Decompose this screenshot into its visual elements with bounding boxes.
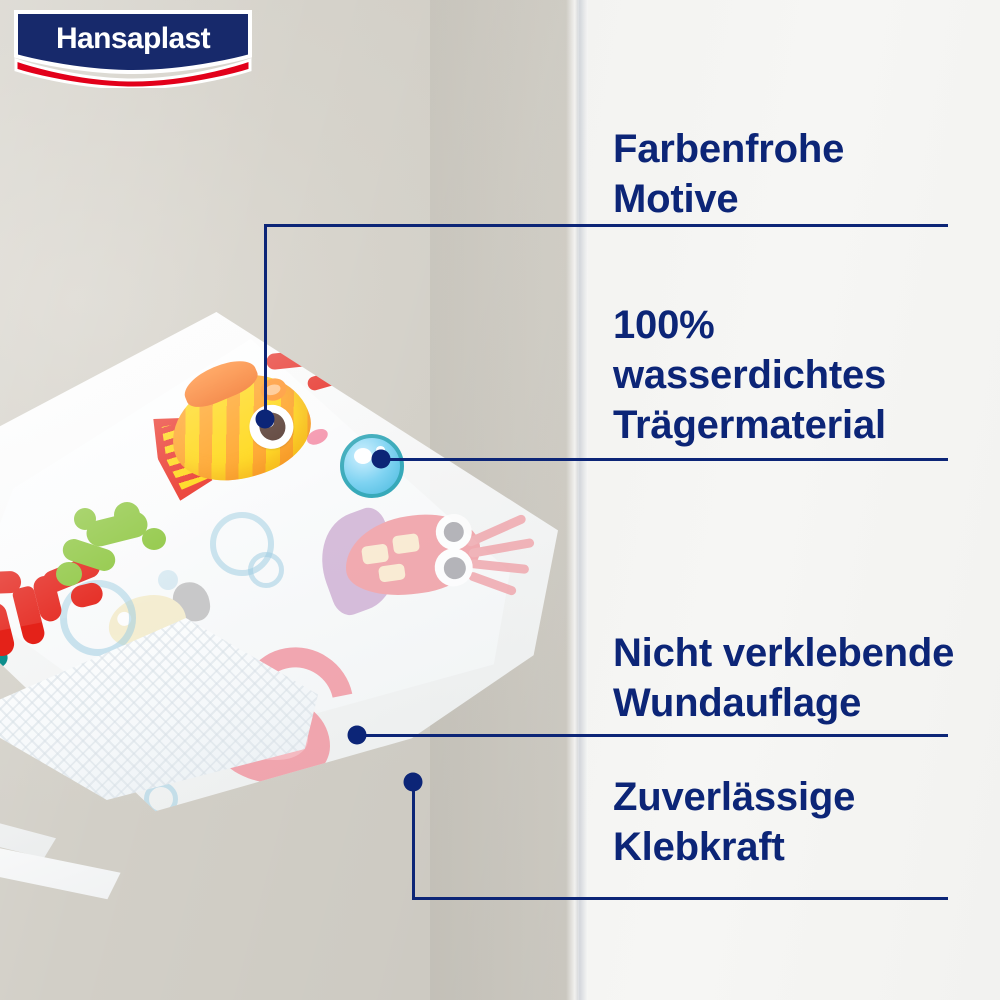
callout-line: 100%	[613, 300, 983, 350]
callout-line: Farbenfrohe	[613, 124, 983, 174]
callout-text-reliable-adhesion: Zuverlässige Klebkraft	[613, 772, 983, 872]
callout-line: Wundauflage	[613, 678, 983, 728]
hansaplast-logo: Hansaplast	[14, 10, 252, 88]
callout-text-non-adherent-pad: Nicht verklebende Wundauflage	[613, 628, 983, 728]
callout-dot-colorful-motifs	[256, 410, 275, 429]
logo-shape	[14, 10, 252, 88]
callout-line: Trägermaterial	[613, 400, 983, 450]
callout-text-waterproof-backing: 100% wasserdichtes Trägermaterial	[613, 300, 983, 450]
callout-line: Nicht verklebende	[613, 628, 983, 678]
callout-line: Klebkraft	[613, 822, 983, 872]
callout-dot-waterproof-backing	[372, 450, 391, 469]
callout-dot-non-adherent-pad	[348, 726, 367, 745]
callout-line: wasserdichtes	[613, 350, 983, 400]
product-feature-image: Farbenfrohe Motive 100% wasserdichtes Tr…	[0, 0, 1000, 1000]
callout-line: Motive	[613, 174, 983, 224]
product-illustration	[0, 300, 610, 900]
callout-line: Zuverlässige	[613, 772, 983, 822]
callout-text-colorful-motifs: Farbenfrohe Motive	[613, 124, 983, 224]
callout-dot-reliable-adhesion	[404, 773, 423, 792]
